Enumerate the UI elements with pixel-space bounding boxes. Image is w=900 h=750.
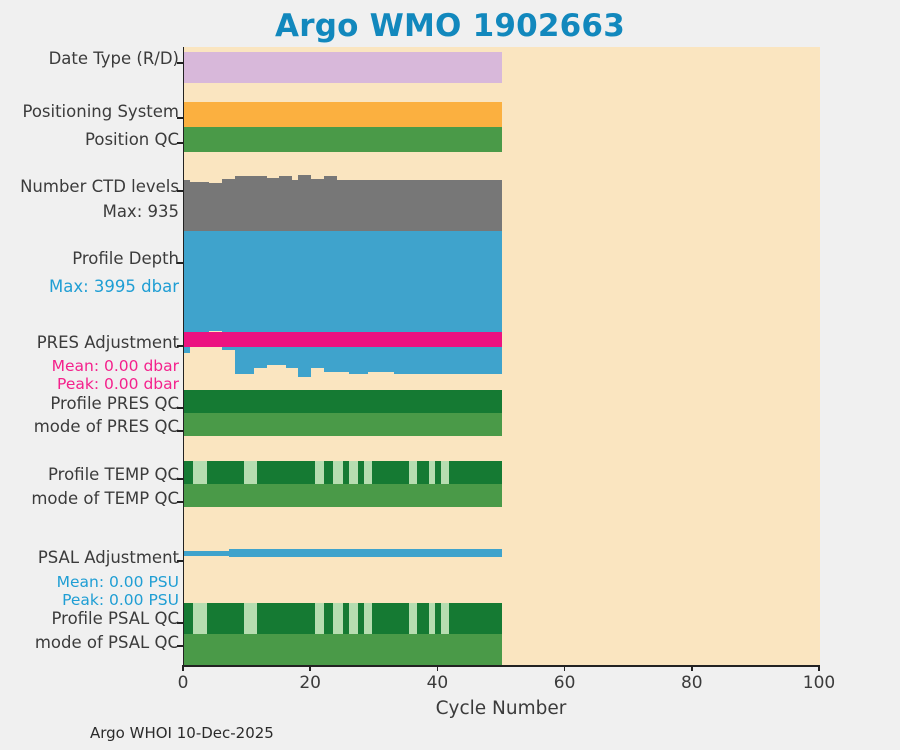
- bar-profile-psal-qc: [441, 603, 449, 634]
- y-tick: [177, 430, 183, 432]
- y-tick: [177, 117, 183, 119]
- x-tick-label: 60: [535, 673, 595, 693]
- y-tick: [177, 478, 183, 480]
- bar-profile-psal-qc: [449, 603, 502, 634]
- x-tick: [309, 665, 311, 671]
- bar-profile-depth: [298, 231, 311, 377]
- bar-profile-temp-qc: [207, 461, 244, 484]
- y-tick: [177, 501, 183, 503]
- bar-profile-psal-qc: [244, 603, 257, 634]
- bar-profile-depth: [311, 231, 324, 368]
- bar-profile-psal-qc: [333, 603, 343, 634]
- x-tick: [818, 665, 820, 671]
- row-label-profile-pres-qc: Profile PRES QC: [0, 395, 179, 412]
- x-tick-label: 40: [407, 673, 467, 693]
- x-tick: [182, 665, 184, 671]
- row-label-mode-of-psal-qc: mode of PSAL QC: [0, 634, 179, 651]
- argo-profile-summary-figure: Argo WMO 1902663 Date Type (R/D) Positio…: [0, 0, 900, 750]
- bar-profile-pres-qc: [184, 390, 502, 413]
- x-tick-label: 80: [662, 673, 722, 693]
- bar-psal-adjustment: [229, 549, 502, 557]
- bar-profile-temp-qc: [333, 461, 343, 484]
- bar-profile-temp-qc: [244, 461, 257, 484]
- y-tick: [177, 142, 183, 144]
- bar-date-type: [184, 52, 502, 83]
- bar-profile-depth: [209, 231, 222, 331]
- bar-profile-temp-qc: [184, 461, 193, 484]
- page-title: Argo WMO 1902663: [0, 8, 900, 44]
- row-label-mode-of-temp-qc: mode of TEMP QC: [0, 490, 179, 507]
- x-tick: [564, 665, 566, 671]
- bar-mode-of-pres-qc: [184, 413, 502, 436]
- y-tick: [177, 262, 183, 264]
- row-label-position-qc: Position QC: [0, 131, 179, 148]
- bar-mode-of-temp-qc: [184, 484, 502, 507]
- x-tick-label: 0: [153, 673, 213, 693]
- row-label-psal-adjustment-peak: Peak: 0.00 PSU: [0, 592, 179, 608]
- bar-profile-temp-qc: [324, 461, 333, 484]
- bar-profile-psal-qc: [315, 603, 324, 634]
- bar-profile-depth: [324, 231, 349, 372]
- bar-position-qc: [184, 127, 502, 152]
- row-label-date-type: Date Type (R/D): [0, 50, 179, 67]
- x-tick: [691, 665, 693, 671]
- row-label-psal-adjustment-mean: Mean: 0.00 PSU: [0, 574, 179, 590]
- y-tick: [177, 345, 183, 347]
- bar-mode-of-psal-qc: [184, 634, 502, 665]
- bar-pres-adjustment: [184, 332, 502, 347]
- y-tick: [177, 407, 183, 409]
- row-label-profile-depth-max: Max: 3995 dbar: [0, 278, 179, 295]
- row-label-profile-temp-qc: Profile TEMP QC: [0, 466, 179, 483]
- bar-profile-psal-qc: [257, 603, 316, 634]
- row-label-pres-adjustment: PRES Adjustment: [0, 334, 179, 351]
- bar-profile-depth: [286, 231, 299, 368]
- y-tick: [177, 622, 183, 624]
- bar-profile-depth: [254, 231, 267, 368]
- bar-profile-temp-qc: [417, 461, 429, 484]
- row-label-number-ctd-levels: Number CTD levels: [0, 178, 179, 195]
- bar-profile-temp-qc: [372, 461, 410, 484]
- bar-profile-psal-qc: [324, 603, 333, 634]
- bar-profile-depth: [394, 231, 502, 374]
- row-label-profile-depth: Profile Depth: [0, 250, 179, 267]
- x-tick: [437, 665, 439, 671]
- bar-profile-depth: [368, 231, 393, 372]
- bar-psal-adjustment: [184, 551, 229, 556]
- bar-profile-temp-qc: [449, 461, 502, 484]
- bar-profile-temp-qc: [193, 461, 207, 484]
- bar-positioning-system: [184, 102, 502, 127]
- bar-profile-psal-qc: [364, 603, 372, 634]
- bar-profile-temp-qc: [441, 461, 449, 484]
- bar-profile-psal-qc: [372, 603, 410, 634]
- bar-profile-temp-qc: [364, 461, 372, 484]
- row-label-psal-adjustment: PSAL Adjustment: [0, 549, 179, 566]
- bar-profile-temp-qc: [257, 461, 316, 484]
- y-tick: [177, 560, 183, 562]
- y-tick: [177, 645, 183, 647]
- bar-profile-psal-qc: [193, 603, 207, 634]
- x-axis-line: [183, 665, 820, 667]
- plot-area: [183, 47, 820, 665]
- bar-profile-temp-qc: [349, 461, 358, 484]
- x-tick-label: 100: [789, 673, 849, 693]
- figure-footer: Argo WHOI 10-Dec-2025: [90, 724, 274, 742]
- row-label-profile-psal-qc: Profile PSAL QC: [0, 610, 179, 627]
- row-label-mode-of-pres-qc: mode of PRES QC: [0, 418, 179, 435]
- bar-profile-psal-qc: [417, 603, 429, 634]
- row-label-positioning-system: Positioning System: [0, 103, 179, 120]
- bar-profile-depth: [190, 231, 209, 340]
- bar-profile-depth: [235, 231, 254, 374]
- y-tick: [177, 62, 183, 64]
- row-label-pres-adjustment-peak: Peak: 0.00 dbar: [0, 376, 179, 392]
- bar-profile-temp-qc: [315, 461, 324, 484]
- x-axis-label: Cycle Number: [183, 698, 819, 719]
- y-tick: [177, 190, 183, 192]
- row-label-number-ctd-levels-max: Max: 935: [0, 203, 179, 220]
- bar-profile-psal-qc: [409, 603, 417, 634]
- bar-profile-psal-qc: [349, 603, 358, 634]
- x-tick-label: 20: [280, 673, 340, 693]
- row-label-pres-adjustment-mean: Mean: 0.00 dbar: [0, 358, 179, 374]
- bar-profile-temp-qc: [409, 461, 417, 484]
- bar-profile-psal-qc: [207, 603, 244, 634]
- bar-profile-depth: [349, 231, 368, 374]
- bar-profile-psal-qc: [184, 603, 193, 634]
